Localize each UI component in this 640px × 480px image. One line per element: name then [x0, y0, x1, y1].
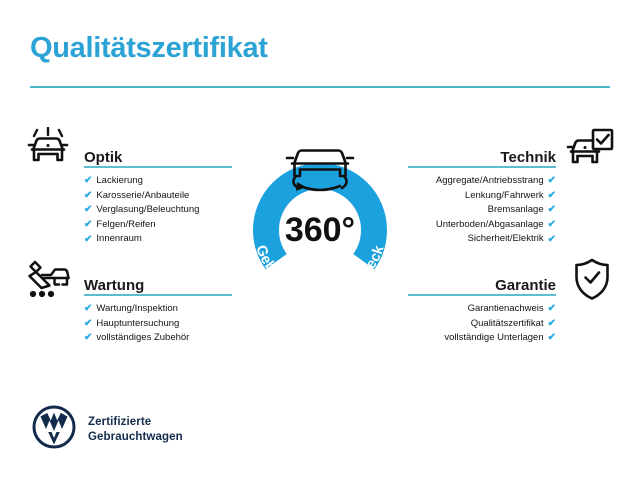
check-icon: ✔: [548, 176, 556, 186]
section-divider: [84, 294, 232, 296]
title-divider: [30, 86, 610, 88]
list-item-label: Aggregate/Antriebsstrang: [436, 174, 544, 189]
section-divider: [408, 166, 556, 168]
checklist-technik: Aggregate/Antriebsstrang✔ Lenkung/Fahrwe…: [408, 174, 556, 247]
checklist-garantie: Garantienachweis✔ Qualitätszertifikat✔ v…: [408, 302, 556, 346]
section-header: Garantie: [408, 268, 556, 296]
list-item-label: Garantienachweis: [468, 302, 544, 317]
check-icon: ✔: [548, 304, 556, 314]
list-item-label: vollständiges Zubehör: [96, 331, 189, 346]
list-item: vollständige Unterlagen✔: [408, 331, 556, 346]
list-item: Qualitätszertifikat✔: [408, 317, 556, 332]
section-heading: Garantie: [495, 278, 556, 293]
list-item-label: Hauptuntersuchung: [96, 317, 179, 332]
pen-car-service-icon: [24, 257, 72, 306]
checklist-optik: ✔Lackierung ✔Karosserie/Anbauteile ✔Verg…: [84, 174, 232, 247]
list-item: ✔vollständiges Zubehör: [84, 331, 232, 346]
list-item-label: vollständige Unterlagen: [444, 331, 543, 346]
check-icon: ✔: [548, 235, 556, 245]
list-item: ✔Karosserie/Anbauteile: [84, 189, 232, 204]
section-garantie: Garantie Garantienachweis✔ Qualitätszert…: [408, 268, 556, 346]
car-checkbox-icon: [566, 128, 614, 175]
list-item-label: Felgen/Reifen: [96, 218, 155, 233]
list-item: Lenkung/Fahrwerk✔: [408, 189, 556, 204]
badge-center-label: 360°: [285, 211, 355, 249]
list-item: Aggregate/Antriebsstrang✔: [408, 174, 556, 189]
page-title: Qualitätszertifikat: [30, 34, 268, 63]
list-item-label: Lackierung: [96, 174, 142, 189]
car-shine-icon: [26, 127, 72, 174]
check-icon: ✔: [548, 333, 556, 343]
list-item: ✔Lackierung: [84, 174, 232, 189]
list-item-label: Verglasung/Beleuchtung: [96, 203, 199, 218]
check-icon: ✔: [548, 205, 556, 215]
list-item: ✔Hauptuntersuchung: [84, 317, 232, 332]
section-header: Technik: [408, 140, 556, 168]
list-item-label: Bremsanlage: [488, 203, 544, 218]
section-heading: Wartung: [84, 278, 144, 293]
list-item: ✔Felgen/Reifen: [84, 218, 232, 233]
list-item-label: Sicherheit/Elektrik: [468, 232, 544, 247]
check-icon: ✔: [84, 333, 92, 343]
check-icon: ✔: [84, 176, 92, 186]
checklist-wartung: ✔Wartung/Inspektion ✔Hauptuntersuchung ✔…: [84, 302, 232, 346]
section-divider: [408, 294, 556, 296]
list-item-label: Lenkung/Fahrwerk: [465, 189, 544, 204]
section-heading: Optik: [84, 150, 122, 165]
certificate-page: Qualitätszertifikat: [0, 0, 640, 480]
footer-text: Zertifizierte Gebrauchtwagen: [88, 415, 183, 445]
section-divider: [84, 166, 232, 168]
footer-line-1: Zertifizierte: [88, 415, 183, 430]
section-technik: Technik Aggregate/Antriebsstrang✔ Lenkun…: [408, 140, 556, 247]
check-icon: ✔: [84, 205, 92, 215]
shield-check-icon: [572, 257, 612, 306]
check-icon: ✔: [84, 191, 92, 201]
check-icon: ✔: [84, 235, 92, 245]
list-item-label: Qualitätszertifikat: [471, 317, 544, 332]
check-icon: ✔: [84, 304, 92, 314]
list-item: Garantienachweis✔: [408, 302, 556, 317]
check-icon: ✔: [84, 220, 92, 230]
list-item-label: Innenraum: [96, 232, 141, 247]
footer-brand: Zertifizierte Gebrauchtwagen: [32, 405, 183, 454]
check-icon: ✔: [548, 319, 556, 329]
list-item: ✔Wartung/Inspektion: [84, 302, 232, 317]
list-item: Bremsanlage✔: [408, 203, 556, 218]
section-wartung: Wartung ✔Wartung/Inspektion ✔Hauptunters…: [84, 268, 232, 346]
section-optik: Optik ✔Lackierung ✔Karosserie/Anbauteile…: [84, 140, 232, 247]
footer-line-2: Gebrauchtwagen: [88, 430, 183, 445]
section-heading: Technik: [500, 150, 556, 165]
list-item-label: Wartung/Inspektion: [96, 302, 178, 317]
check-icon: ✔: [84, 319, 92, 329]
vw-logo-icon: [32, 405, 76, 454]
list-item: Sicherheit/Elektrik✔: [408, 232, 556, 247]
check-icon: ✔: [548, 220, 556, 230]
section-header: Wartung: [84, 268, 232, 296]
list-item: ✔Innenraum: [84, 232, 232, 247]
section-header: Optik: [84, 140, 232, 168]
badge-360-gebrauchtwagen-check: 360° Gebrauchtwagen-Check: [224, 118, 416, 308]
list-item-label: Unterboden/Abgasanlage: [436, 218, 544, 233]
check-icon: ✔: [548, 191, 556, 201]
list-item-label: Karosserie/Anbauteile: [96, 189, 189, 204]
list-item: Unterboden/Abgasanlage✔: [408, 218, 556, 233]
list-item: ✔Verglasung/Beleuchtung: [84, 203, 232, 218]
